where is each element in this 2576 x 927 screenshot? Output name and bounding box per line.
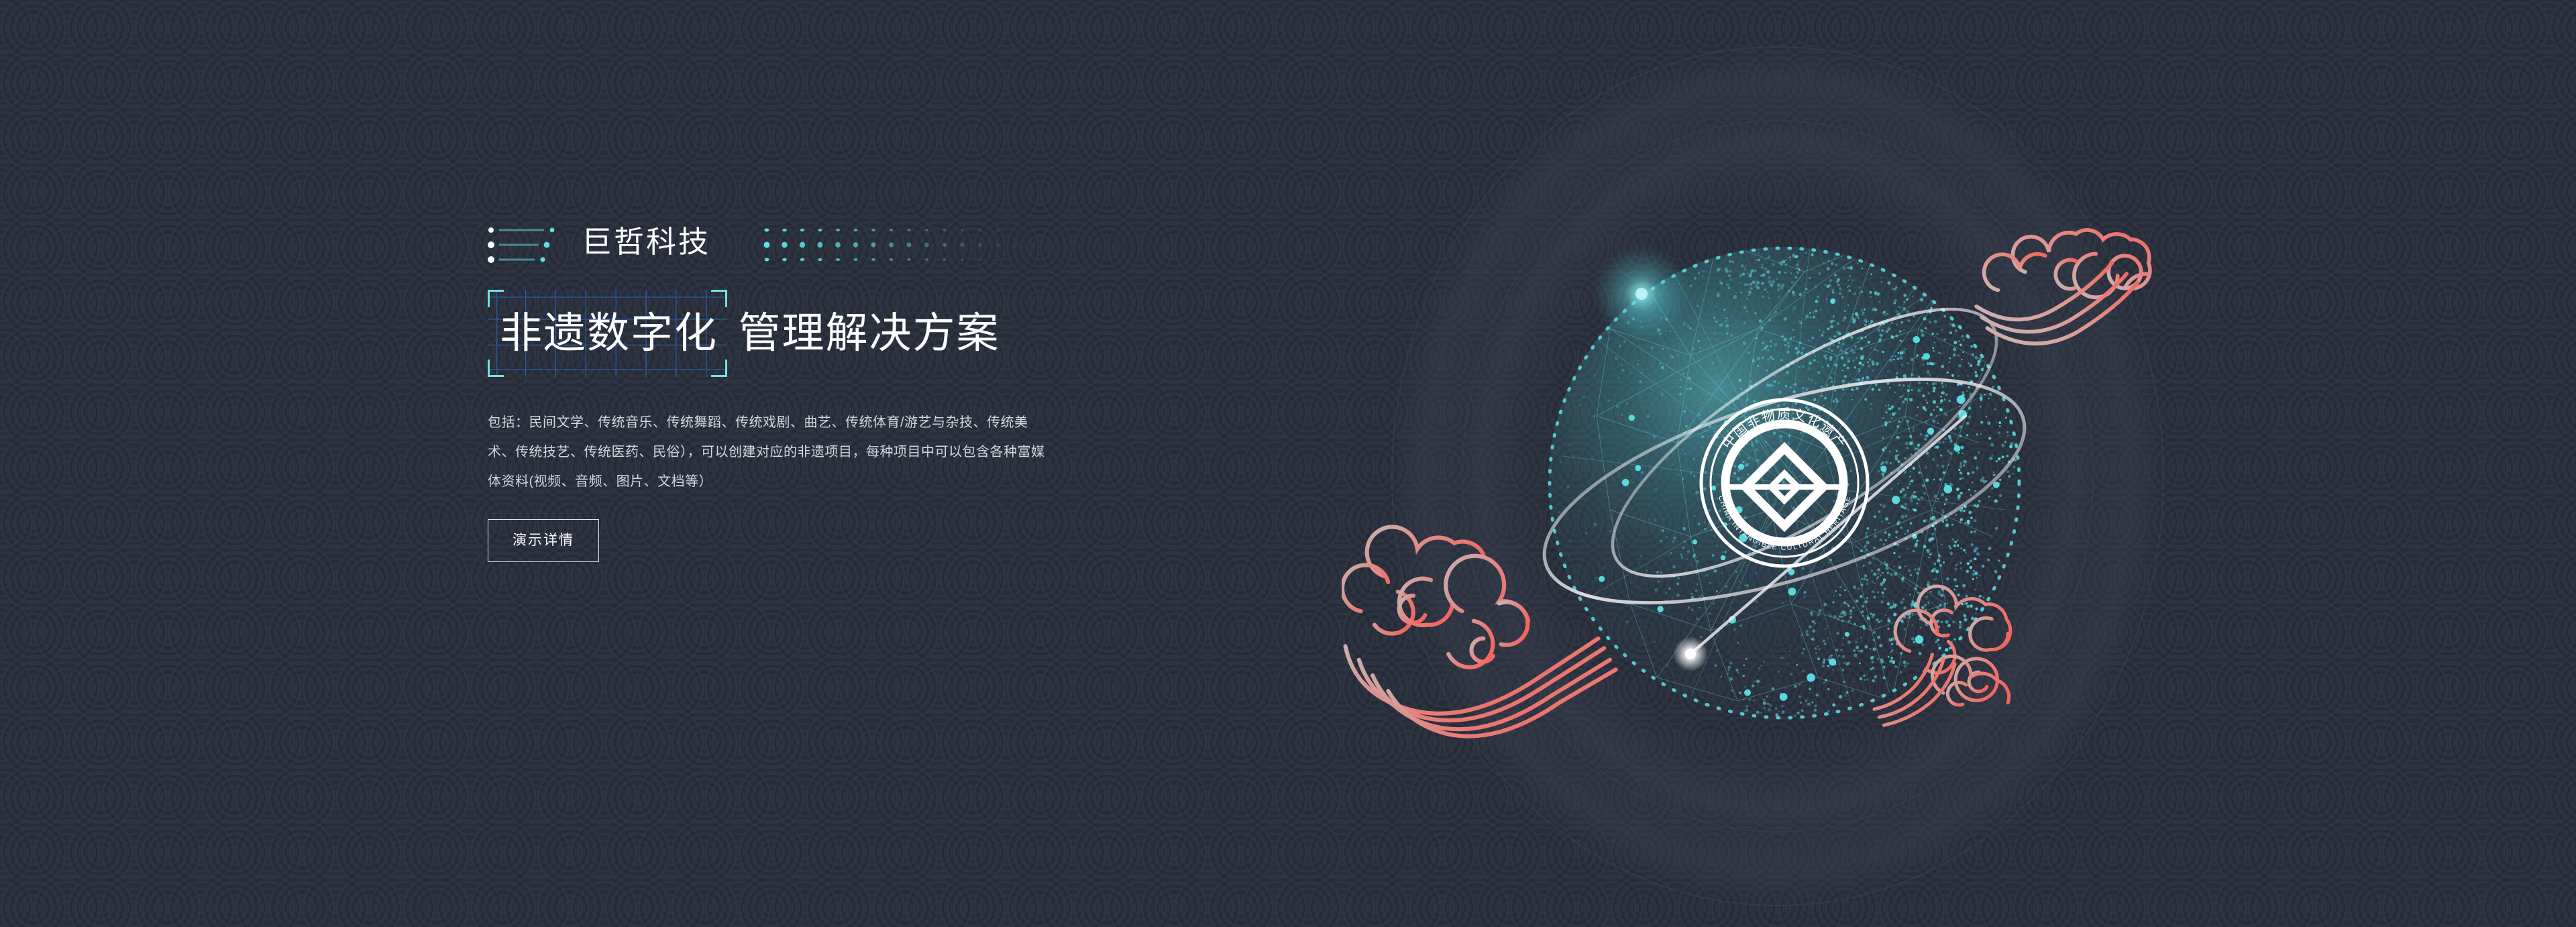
headline-accent-box: 非遗数字化 bbox=[488, 290, 727, 377]
brand-decoration-lines bbox=[488, 224, 561, 266]
hero-banner: 中国非物质文化遗产 CHINA INTANGIBLE CULTURAL HERI… bbox=[0, 0, 2576, 927]
bracket-corner-bottom-left bbox=[488, 360, 504, 377]
brand-row: 巨哲科技 bbox=[488, 221, 1226, 268]
bracket-corner-top-right bbox=[711, 290, 727, 307]
description-paragraph: 包括：民间文学、传统音乐、传统舞蹈、传统戏剧、曲艺、传统体育/游艺与杂技、传统美… bbox=[488, 408, 1051, 496]
brand-name: 巨哲科技 bbox=[582, 221, 710, 263]
hero-text-column: 巨哲科技 bbox=[488, 221, 1226, 562]
globe-artwork: 中国非物质文化遗产 CHINA INTANGIBLE CULTURAL HERI… bbox=[1342, 40, 2241, 912]
headline-rest-text: 管理解决方案 bbox=[738, 290, 1000, 377]
headline-accent-text: 非遗数字化 bbox=[500, 310, 718, 357]
brand-dot-grid bbox=[763, 225, 1044, 264]
demo-details-button[interactable]: 演示详情 bbox=[488, 519, 599, 562]
bracket-corner-top-left bbox=[488, 290, 504, 307]
bracket-corner-bottom-right bbox=[711, 360, 727, 377]
headline: 非遗数字化 管理解决方案 bbox=[488, 290, 1226, 385]
